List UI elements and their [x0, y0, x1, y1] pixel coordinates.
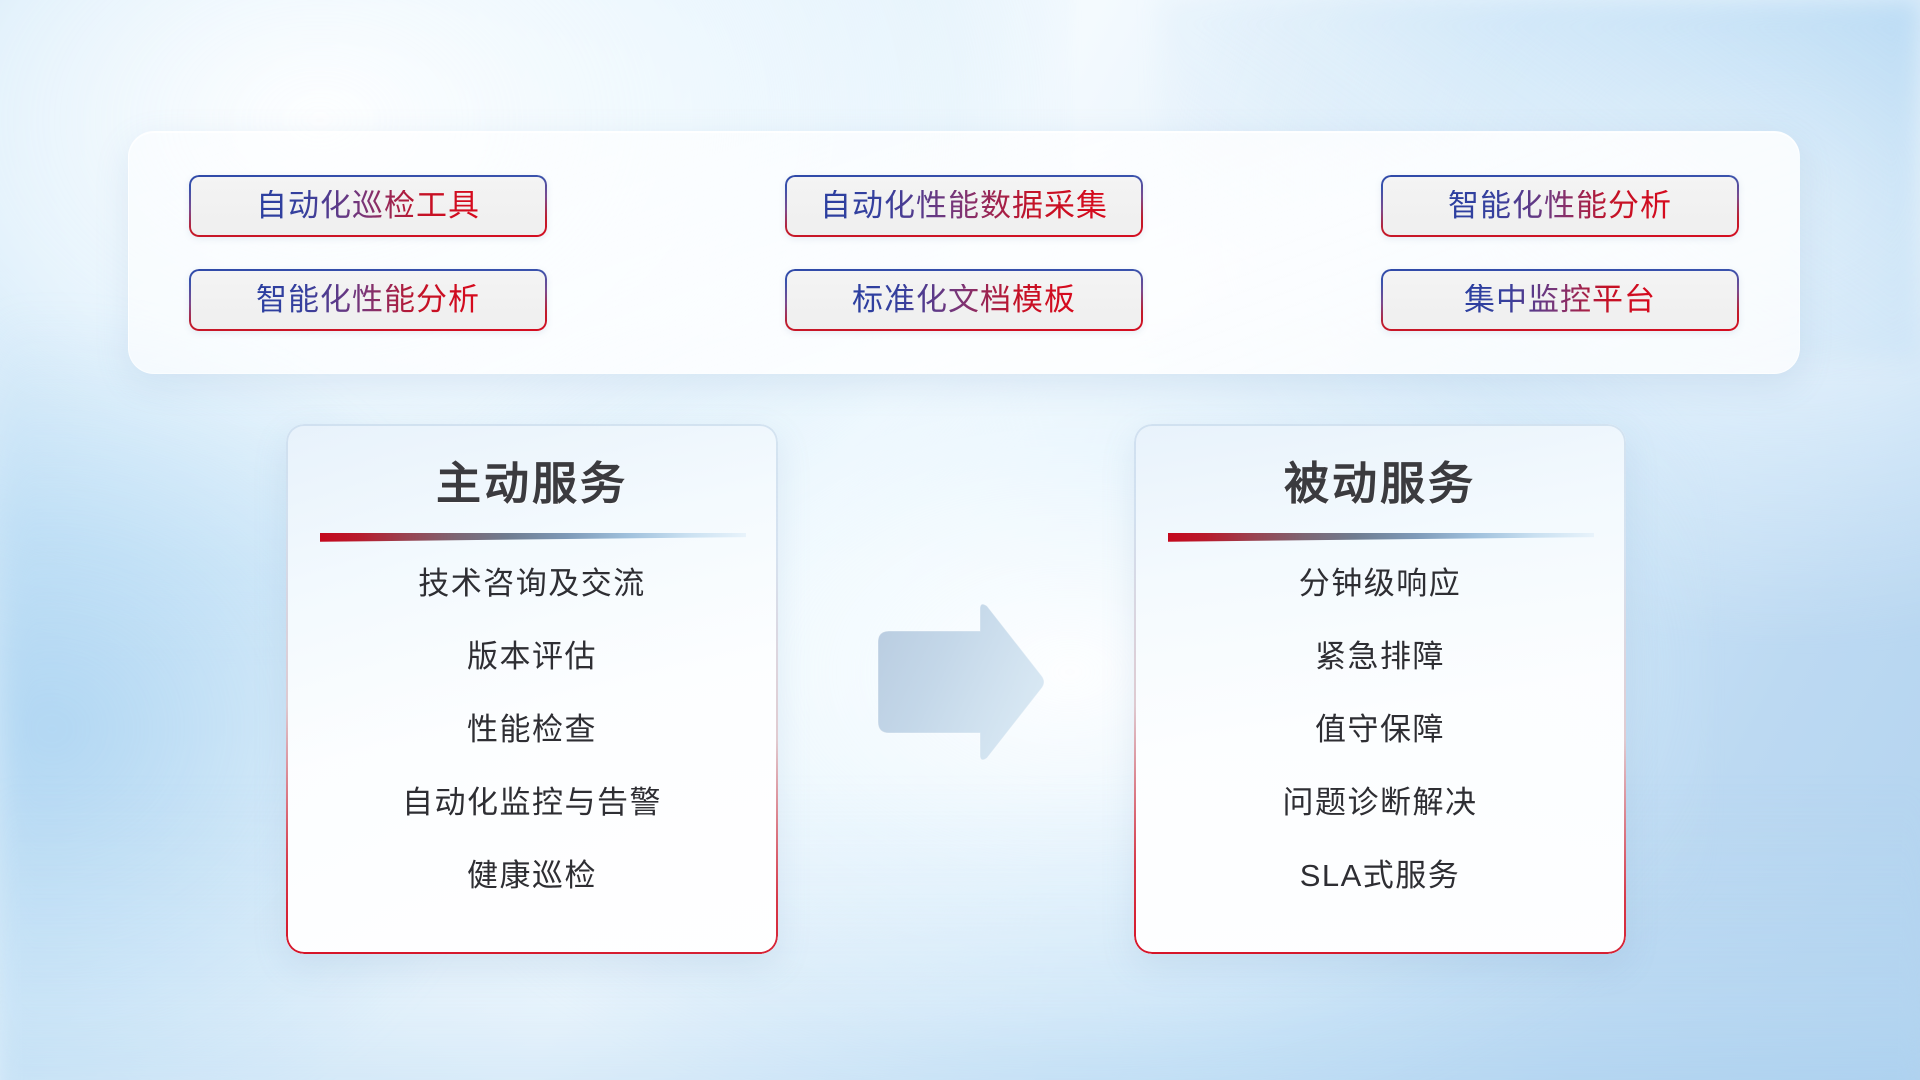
service-card-proactive: 主动服务 技术咨询及交流 版本评估 性能检查 自动化监控与告警 健康巡检 — [286, 424, 778, 954]
list-item: SLA式服务 — [1168, 839, 1592, 912]
capability-tag-centralized-monitoring-platform[interactable]: 集中监控平台 — [1381, 269, 1739, 331]
infographic-canvas: 自动化巡检工具 自动化性能数据采集 智能化性能分析 智能化性能分析 标准化文档模… — [0, 0, 1920, 1080]
list-item: 分钟级响应 — [1168, 547, 1592, 620]
service-card-title: 被动服务 — [1168, 458, 1592, 510]
card-divider — [320, 533, 746, 542]
capability-tag-standardized-doc-template[interactable]: 标准化文档模板 — [785, 269, 1143, 331]
service-card-title: 主动服务 — [320, 458, 744, 510]
list-item: 版本评估 — [320, 620, 744, 693]
capability-tag-label: 智能化性能分析 — [256, 284, 480, 315]
capability-tag-intelligent-performance-analysis-2[interactable]: 智能化性能分析 — [189, 269, 547, 331]
service-item-list: 技术咨询及交流 版本评估 性能检查 自动化监控与告警 健康巡检 — [320, 542, 744, 924]
capability-panel: 自动化巡检工具 自动化性能数据采集 智能化性能分析 智能化性能分析 标准化文档模… — [128, 131, 1800, 374]
capability-row-2: 智能化性能分析 标准化文档模板 集中监控平台 — [189, 269, 1739, 331]
list-item: 健康巡检 — [320, 839, 744, 912]
list-item: 问题诊断解决 — [1168, 766, 1592, 839]
list-item: 紧急排障 — [1168, 620, 1592, 693]
list-item: 性能检查 — [320, 693, 744, 766]
capability-tag-label: 标准化文档模板 — [852, 284, 1076, 315]
capability-tag-automated-inspection-tool[interactable]: 自动化巡检工具 — [189, 175, 547, 237]
list-item: 值守保障 — [1168, 693, 1592, 766]
capability-tag-label: 智能化性能分析 — [1448, 190, 1672, 221]
list-item: 自动化监控与告警 — [320, 766, 744, 839]
capability-tag-label: 集中监控平台 — [1464, 284, 1656, 315]
capability-row-1: 自动化巡检工具 自动化性能数据采集 智能化性能分析 — [189, 175, 1739, 237]
arrow-right-icon — [872, 604, 1047, 764]
capability-tag-intelligent-performance-analysis[interactable]: 智能化性能分析 — [1381, 175, 1739, 237]
list-item: 技术咨询及交流 — [320, 547, 744, 620]
capability-tag-automated-performance-data-collection[interactable]: 自动化性能数据采集 — [785, 175, 1143, 237]
capability-tag-label: 自动化性能数据采集 — [820, 190, 1108, 221]
service-card-reactive: 被动服务 分钟级响应 紧急排障 值守保障 问题诊断解决 SLA式服务 — [1134, 424, 1626, 954]
card-divider — [1168, 533, 1594, 542]
capability-tag-label: 自动化巡检工具 — [256, 190, 480, 221]
service-item-list: 分钟级响应 紧急排障 值守保障 问题诊断解决 SLA式服务 — [1168, 542, 1592, 924]
